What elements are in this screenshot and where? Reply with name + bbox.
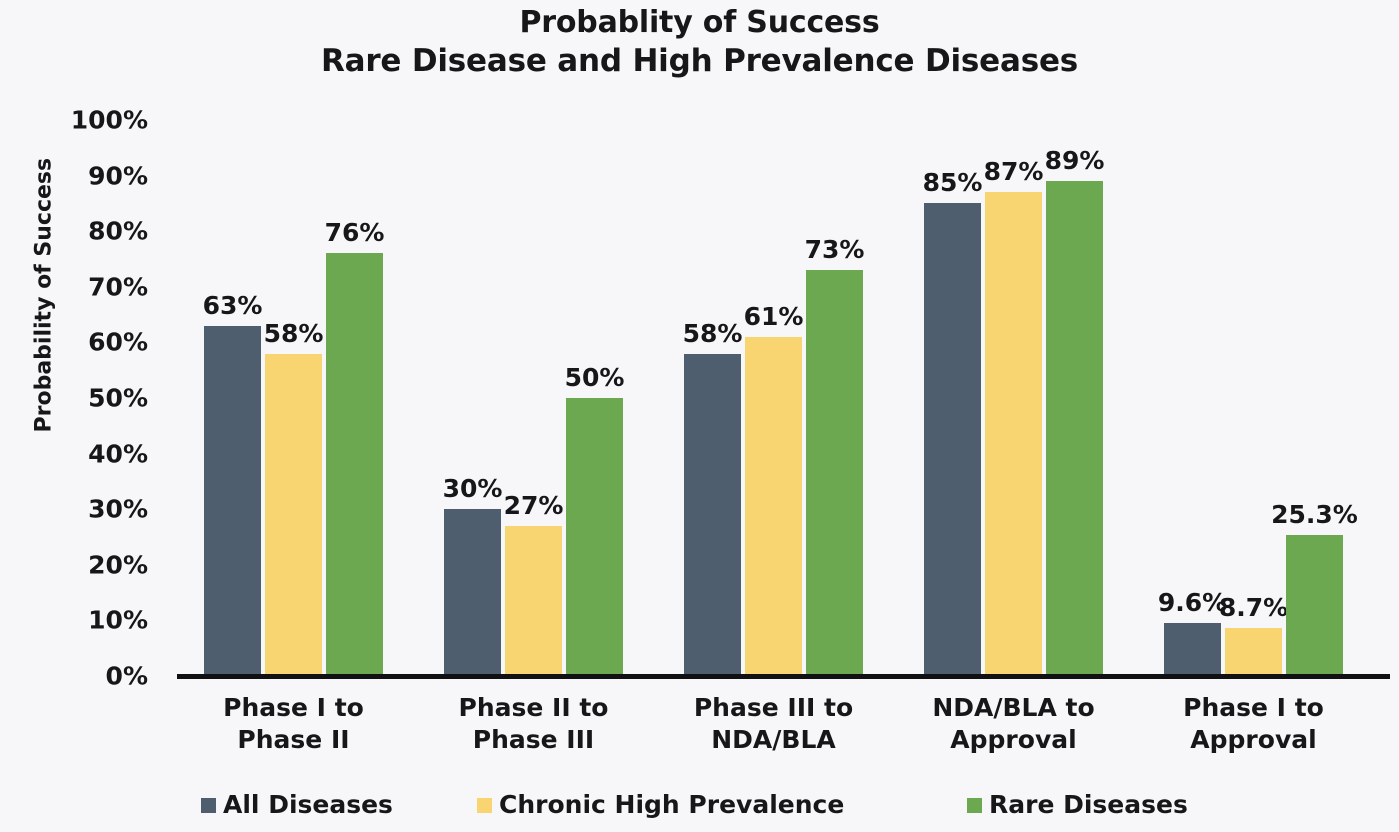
legend-label: Rare Diseases — [989, 791, 1188, 819]
x-axis-line — [177, 674, 1390, 679]
category-label-line: NDA/BLA to — [894, 692, 1134, 724]
bar[interactable]: 58% — [684, 354, 741, 676]
bar[interactable]: 50% — [566, 398, 623, 676]
y-axis-tick-label: 0% — [28, 662, 148, 691]
y-axis-tick-label: 70% — [28, 272, 148, 301]
chart-legend: All DiseasesChronic High PrevalenceRare … — [177, 788, 1277, 822]
bar[interactable]: 58% — [265, 354, 322, 676]
legend-swatch-icon — [477, 798, 492, 813]
y-axis-tick-label: 90% — [28, 161, 148, 190]
bar-chart: Probablity of Success Rare Disease and H… — [0, 0, 1399, 832]
category-label-line: Approval — [1134, 724, 1374, 756]
y-axis-tick-label: 60% — [28, 328, 148, 357]
chart-title-block: Probablity of Success Rare Disease and H… — [0, 4, 1399, 80]
bar[interactable]: 63% — [204, 326, 261, 676]
category-label-line: Approval — [894, 724, 1134, 756]
bar-value-label: 50% — [535, 363, 655, 392]
x-axis-category-label: Phase I toPhase II — [174, 692, 414, 756]
category-label-line: Phase II — [174, 724, 414, 756]
legend-item[interactable]: Chronic High Prevalence — [477, 788, 844, 822]
legend-label: Chronic High Prevalence — [499, 791, 844, 819]
x-axis-category-label: NDA/BLA toApproval — [894, 692, 1134, 756]
legend-item[interactable]: All Diseases — [201, 788, 393, 822]
legend-swatch-icon — [967, 798, 982, 813]
bar[interactable]: 25.3% — [1286, 535, 1343, 676]
bar-group: 85%87%89% — [924, 120, 1103, 676]
category-label-line: Phase III to — [654, 692, 894, 724]
y-axis-tick-label: 100% — [28, 106, 148, 135]
bar[interactable]: 87% — [985, 192, 1042, 676]
y-axis-tick-label: 50% — [28, 384, 148, 413]
category-label-line: Phase III — [414, 724, 654, 756]
bar[interactable]: 76% — [326, 253, 383, 676]
chart-title: Probablity of Success — [0, 4, 1399, 42]
bar-group: 63%58%76% — [204, 120, 383, 676]
legend-item[interactable]: Rare Diseases — [967, 788, 1188, 822]
chart-subtitle: Rare Disease and High Prevalence Disease… — [0, 42, 1399, 80]
x-axis-category-label: Phase I toApproval — [1134, 692, 1374, 756]
y-axis-tick-label: 80% — [28, 217, 148, 246]
bar-value-label: 76% — [295, 218, 415, 247]
bar[interactable]: 73% — [806, 270, 863, 676]
bar-value-label: 73% — [775, 235, 895, 264]
bar-value-label: 25.3% — [1255, 500, 1375, 529]
category-label-line: Phase I to — [1134, 692, 1374, 724]
category-label-line: Phase II to — [414, 692, 654, 724]
bar[interactable]: 9.6% — [1164, 623, 1221, 676]
bar[interactable]: 30% — [444, 509, 501, 676]
bar-value-label: 89% — [1015, 146, 1135, 175]
y-axis-tick-label: 10% — [28, 606, 148, 635]
bar[interactable]: 27% — [505, 526, 562, 676]
legend-label: All Diseases — [223, 791, 393, 819]
bar-group: 58%61%73% — [684, 120, 863, 676]
category-label-line: NDA/BLA — [654, 724, 894, 756]
bar[interactable]: 8.7% — [1225, 628, 1282, 676]
x-axis-category-label: Phase II toPhase III — [414, 692, 654, 756]
y-axis-tick-label: 20% — [28, 550, 148, 579]
plot-area: 63%58%76%30%27%50%58%61%73%85%87%89%9.6%… — [177, 120, 1390, 676]
bar[interactable]: 89% — [1046, 181, 1103, 676]
y-axis-tick-label: 40% — [28, 439, 148, 468]
legend-swatch-icon — [201, 798, 216, 813]
x-axis-category-label: Phase III toNDA/BLA — [654, 692, 894, 756]
bar-group: 9.6%8.7%25.3% — [1164, 120, 1343, 676]
category-label-line: Phase I to — [174, 692, 414, 724]
bar-value-label: 63% — [173, 291, 293, 320]
bar[interactable]: 85% — [924, 203, 981, 676]
y-axis-tick-label: 30% — [28, 495, 148, 524]
bar-group: 30%27%50% — [444, 120, 623, 676]
bar[interactable]: 61% — [745, 337, 802, 676]
